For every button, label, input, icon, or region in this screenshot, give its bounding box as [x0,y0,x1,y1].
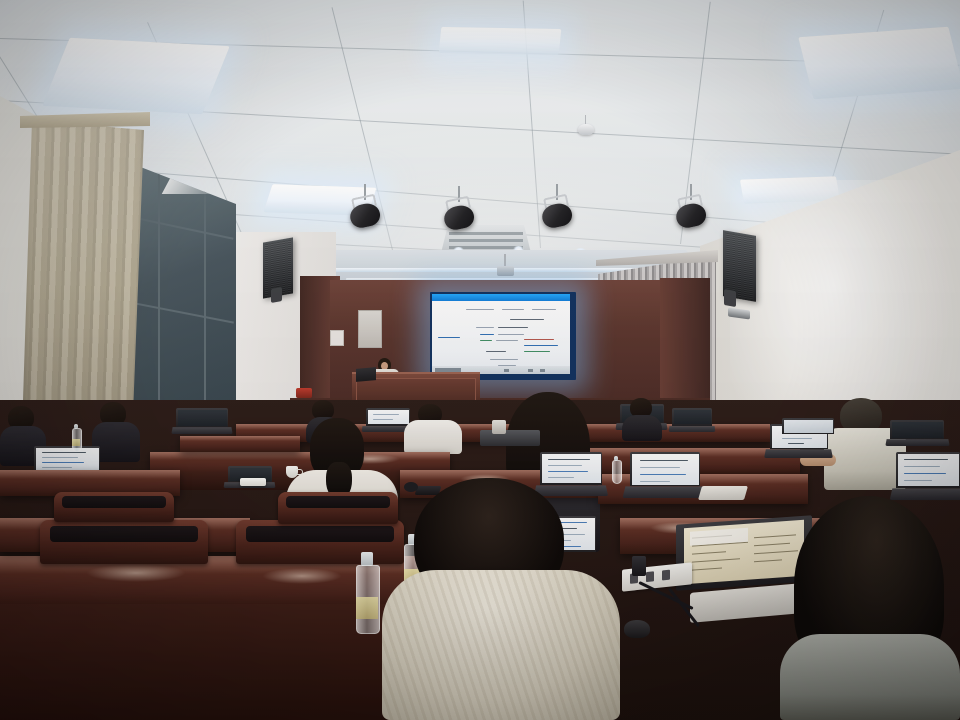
front-wall-panel-right [660,278,710,402]
curtain-left [22,120,144,440]
student-foreground-right [780,496,960,720]
chair-foreground-left[interactable] [40,520,208,564]
chair-mid-left[interactable] [278,492,398,524]
laptop-far-right-2[interactable] [896,452,960,500]
student-foreground-right-top [780,634,960,720]
water-bottle-foreground[interactable] [356,552,378,632]
laptop-back-left[interactable] [176,408,228,434]
light-panel-center [439,27,562,55]
smoke-detector [578,124,594,135]
laptop-back-right-2[interactable] [672,408,712,432]
ceiling-speaker-4 [676,196,706,226]
light-panel-left-front [42,38,229,114]
ceiling-speaker-1 [350,196,380,226]
laptop-far-right[interactable] [890,420,944,446]
water-bottle-left[interactable] [72,424,80,450]
laptop-right-row3[interactable] [630,452,700,498]
chair-foreground-center[interactable] [236,520,404,564]
ceiling-speaker-2 [444,198,474,228]
light-panel-right-front [798,27,960,99]
ceiling-projector [497,266,514,276]
power-strip-mid[interactable] [240,478,266,486]
ceiling-speaker-3 [542,196,572,226]
laptop-right-man-2[interactable] [782,418,834,440]
presenter-laptop[interactable] [356,367,376,382]
front-wall-switch-panel[interactable] [330,330,344,346]
wall-speaker-left-bracket [271,287,282,303]
wall-speaker-right-bracket [724,289,736,307]
classroom-photo [0,0,960,720]
desk-row-5-left [180,436,300,452]
computer-mouse[interactable] [624,620,650,638]
external-keyboard-right[interactable] [698,486,748,500]
laptop-back-center[interactable] [366,408,410,432]
student-foreground-cream [382,478,620,720]
student-foreground-cream-blouse [382,570,620,720]
charger-block [632,556,646,576]
front-wall-fire-box [296,388,312,398]
chair-mid-far-left[interactable] [54,492,174,522]
desk-microphone-base [492,420,506,434]
front-wall-door [358,310,382,348]
projection-screen-content [432,301,570,374]
projection-screen-title-bar [432,294,570,301]
equipment-box-front [480,430,540,446]
